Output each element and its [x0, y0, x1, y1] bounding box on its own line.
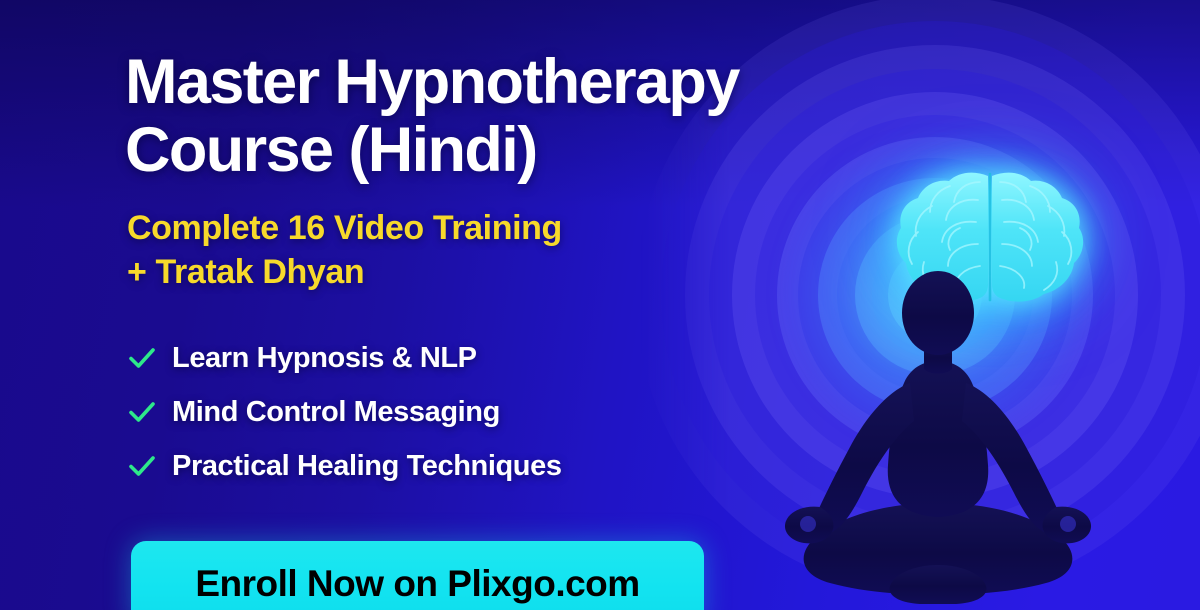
enroll-now-button[interactable]: Enroll Now on Plixgo.com: [131, 541, 704, 610]
check-icon: [125, 395, 159, 429]
list-item: Practical Healing Techniques: [125, 439, 725, 493]
content-column: Master Hypnotherapy Course (Hindi) Compl…: [0, 0, 720, 610]
subtitle: Complete 16 Video Training + Tratak Dhya…: [127, 206, 727, 294]
subtitle-line-1: Complete 16 Video Training: [127, 206, 727, 250]
subtitle-line-2: + Tratak Dhyan: [127, 250, 727, 294]
headline-line-1: Master Hypnotherapy: [125, 48, 705, 116]
promo-banner: Master Hypnotherapy Course (Hindi) Compl…: [0, 0, 1200, 610]
feature-label: Mind Control Messaging: [172, 396, 500, 429]
meditating-person-silhouette: [738, 265, 1138, 610]
feature-list: Learn Hypnosis & NLP Mind Control Messag…: [125, 331, 725, 493]
check-icon: [125, 341, 159, 375]
page-title: Master Hypnotherapy Course (Hindi): [125, 48, 705, 184]
feature-label: Learn Hypnosis & NLP: [172, 342, 477, 375]
list-item: Learn Hypnosis & NLP: [125, 331, 725, 385]
feature-label: Practical Healing Techniques: [172, 450, 562, 483]
list-item: Mind Control Messaging: [125, 385, 725, 439]
check-icon: [125, 449, 159, 483]
headline-line-2: Course (Hindi): [125, 116, 705, 184]
